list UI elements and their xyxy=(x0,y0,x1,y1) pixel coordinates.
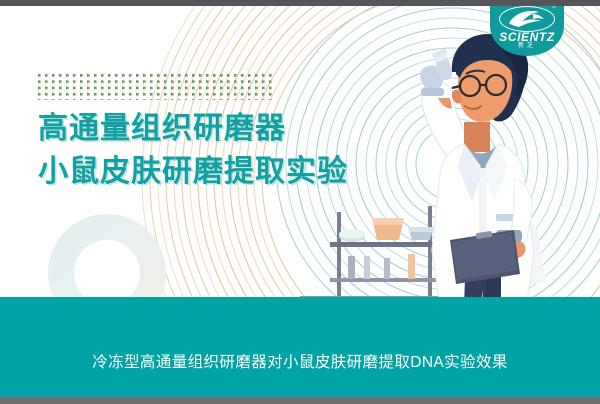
page-title: 高通量组织研磨器 小鼠皮肤研磨提取实验 xyxy=(38,109,348,192)
artwork-stage: 高通量组织研磨器 小鼠皮肤研磨提取实验 xyxy=(0,6,600,397)
caption-text: 冷冻型高通量组织研磨器对小鼠皮肤研磨提取DNA实验效果 xyxy=(92,350,508,372)
dot-grid-pattern xyxy=(38,74,276,100)
page-title-line-1: 高通量组织研磨器 xyxy=(38,109,348,149)
page-title-line-2: 小鼠皮肤研磨提取实验 xyxy=(38,152,348,192)
scientist-figure xyxy=(420,34,546,322)
poster-root: 高通量组织研磨器 小鼠皮肤研磨提取实验 xyxy=(0,0,600,404)
scientz-logo[interactable]: ® SCIENTZ 新芝 xyxy=(490,0,564,56)
caption-banner: 冷冻型高通量组织研磨器对小鼠皮肤研磨提取DNA实验效果 xyxy=(0,297,600,397)
top-chrome-strip xyxy=(0,0,600,6)
bottom-chrome-strip xyxy=(0,397,600,404)
logo-wordmark: SCIENTZ xyxy=(490,31,564,43)
logo-chinese-mark: 新芝 xyxy=(490,43,564,50)
logo-swoosh-icon xyxy=(507,9,547,28)
